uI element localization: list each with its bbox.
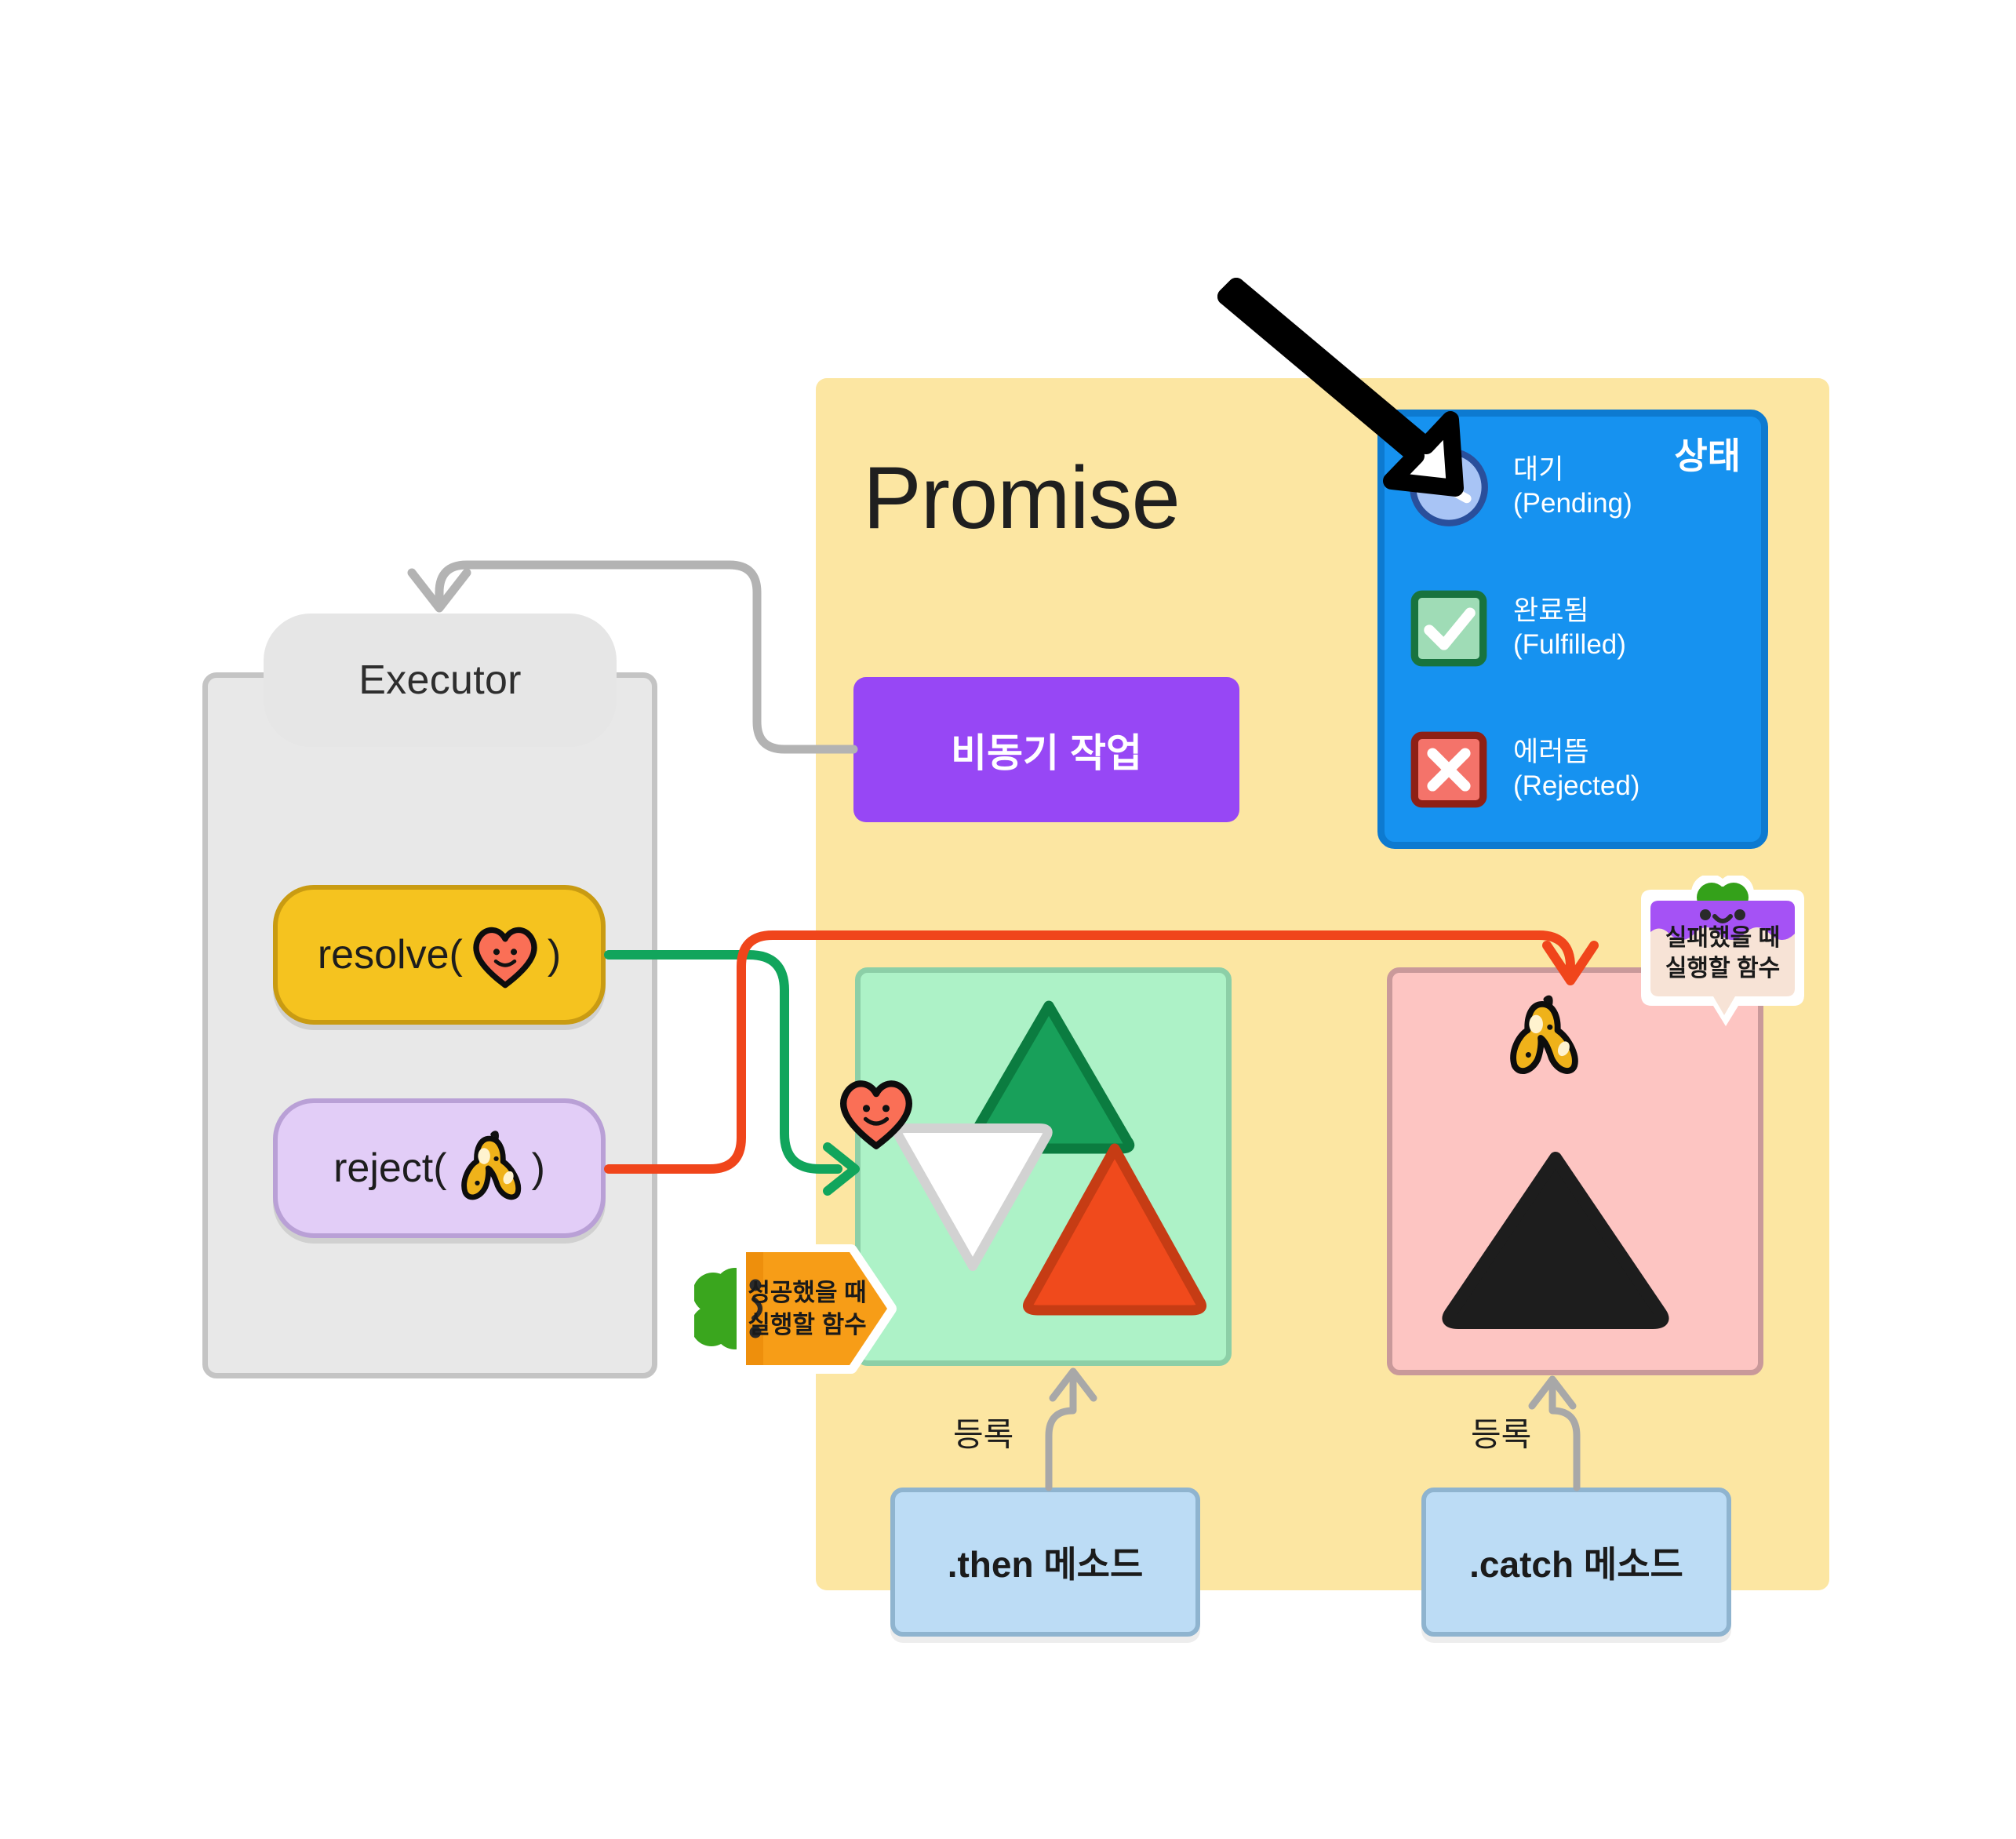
resolve-label-prefix: resolve( <box>318 931 463 978</box>
resolve-button[interactable]: resolve( ) <box>273 885 606 1025</box>
heart-face-emoji <box>835 1073 917 1150</box>
catch-method-box[interactable]: .catch 메소드 <box>1421 1488 1731 1637</box>
then-method-box[interactable]: .then 메소드 <box>890 1488 1200 1637</box>
register-label-then: 등록 <box>953 1408 1013 1456</box>
state-row-fulfilled: 완료됨 (Fulfilled) <box>1408 588 1626 669</box>
then-result-panel <box>855 967 1232 1366</box>
cross-icon <box>1408 729 1490 810</box>
executor-tab-label: Executor <box>358 657 522 704</box>
triangle-up-red <box>1017 1138 1212 1320</box>
triangle-up-black <box>1438 1147 1673 1334</box>
banana-peel-emoji <box>447 1130 532 1207</box>
diagram-canvas: Promise 비동기 작업 상태 대기 (Pending) 완료됨 (Fulf… <box>0 0 2016 1839</box>
register-label-catch: 등록 <box>1471 1408 1531 1456</box>
banana-peel-emoji <box>1504 995 1581 1081</box>
executor-panel <box>202 672 657 1378</box>
executor-tab: Executor <box>264 614 617 747</box>
catch-method-label: .catch 메소드 <box>1469 1536 1683 1588</box>
resolve-label-suffix: ) <box>548 931 561 978</box>
clock-icon <box>1408 446 1490 528</box>
state-row-pending: 대기 (Pending) <box>1408 446 1632 528</box>
state-box: 상태 대기 (Pending) 완료됨 (Fulfilled) <box>1377 410 1768 849</box>
state-label-pending: 대기 (Pending) <box>1513 453 1632 520</box>
page-title: Promise <box>863 447 1180 548</box>
then-method-label: .then 메소드 <box>948 1536 1144 1588</box>
success-callout: 성공했을 때 실행할 함수 <box>694 1244 897 1374</box>
reject-button[interactable]: reject( ) <box>273 1098 606 1238</box>
reject-label-prefix: reject( <box>333 1145 446 1192</box>
fail-callout: 실패했을 때 실행할 함수 <box>1628 876 1817 1007</box>
state-box-title: 상태 <box>1674 428 1741 479</box>
heart-face-emoji <box>463 921 548 989</box>
state-label-fulfilled: 완료됨 (Fulfilled) <box>1513 595 1626 661</box>
reject-label-suffix: ) <box>532 1145 545 1192</box>
success-callout-text: 성공했을 때 실행할 함수 <box>748 1277 866 1341</box>
state-label-rejected: 에러뜸 (Rejected) <box>1513 736 1639 803</box>
async-task-label: 비동기 작업 <box>951 722 1142 778</box>
fail-callout-text: 실패했을 때 실행할 함수 <box>1665 923 1780 1007</box>
check-icon <box>1408 588 1490 669</box>
state-row-rejected: 에러뜸 (Rejected) <box>1408 729 1639 810</box>
async-task-box[interactable]: 비동기 작업 <box>853 677 1239 822</box>
